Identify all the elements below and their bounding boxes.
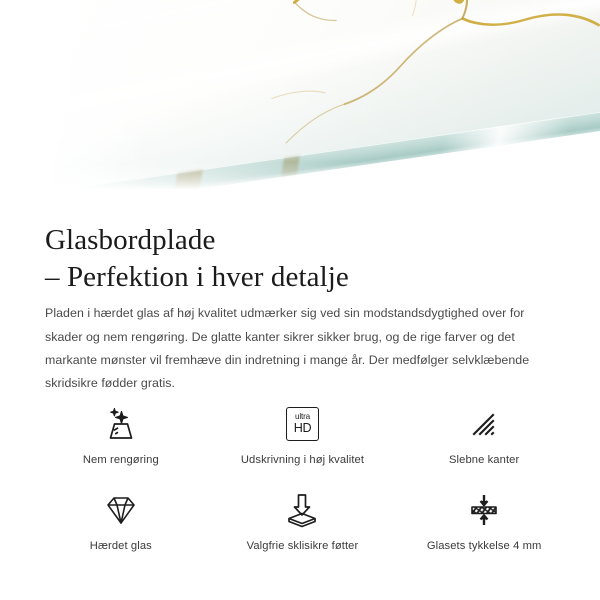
diamond-icon: [101, 488, 141, 532]
feature-item-anti-slip-feet: Valgfrie sklisikre føtter: [212, 488, 394, 574]
page-title-line-1: Glasbordplade: [45, 222, 565, 259]
glass-edge-speck-2: [281, 156, 300, 176]
feature-item-easy-cleaning: Nem rengøring: [30, 402, 212, 488]
anti-slip-feet-icon: [282, 488, 322, 532]
page-title: Glasbordplade – Perfektion i hver detalj…: [45, 222, 565, 296]
feature-label-glass-thickness: Glasets tykkelse 4 mm: [427, 540, 542, 552]
feature-item-hd-print: ultra HD Udskrivning i høj kvalitet: [212, 402, 394, 488]
feature-label-polished-edges: Slebne kanter: [449, 454, 519, 466]
sparkle-clean-icon: [101, 402, 141, 446]
product-description-page: Glasbordplade – Perfektion i hver detalj…: [0, 0, 600, 600]
ultra-hd-badge-icon: ultra HD: [286, 402, 319, 446]
feature-item-tempered-glass: Hærdet glas: [30, 488, 212, 574]
hero-product-image: [0, 0, 600, 196]
feature-label-easy-cleaning: Nem rengøring: [83, 454, 159, 466]
page-title-line-2: – Perfektion i hver detalje: [45, 259, 565, 296]
feature-label-hd-print: Udskrivning i høj kvalitet: [241, 454, 364, 466]
glass-slab-graphic: [47, 0, 600, 196]
feature-item-glass-thickness: Glasets tykkelse 4 mm: [393, 488, 575, 574]
ultra-hd-badge-small-text: ultra: [295, 413, 310, 421]
product-description-text: Pladen i hærdet glas af høj kvalitet udm…: [45, 302, 558, 395]
feature-label-anti-slip-feet: Valgfrie sklisikre føtter: [247, 540, 359, 552]
ultra-hd-badge-big-text: HD: [294, 422, 312, 435]
glass-thickness-icon: [464, 488, 504, 532]
ultra-hd-badge: ultra HD: [286, 407, 319, 441]
feature-label-tempered-glass: Hærdet glas: [90, 540, 152, 552]
feature-item-polished-edges: Slebne kanter: [393, 402, 575, 488]
polished-edges-icon: [466, 402, 502, 446]
feature-list: Nem rengøring ultra HD Udskrivning i høj…: [30, 402, 575, 574]
